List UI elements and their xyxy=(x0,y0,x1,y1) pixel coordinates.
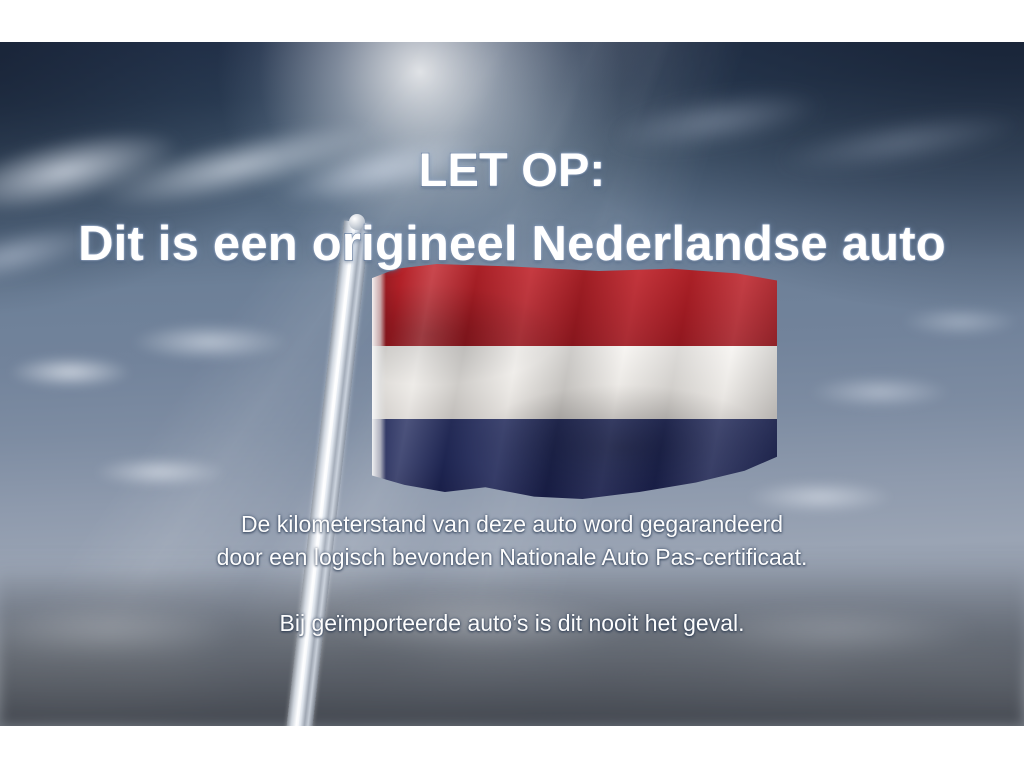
flag-stripe-red xyxy=(372,264,777,346)
photo-canvas: LET OP: Dit is een origineel Nederlandse… xyxy=(0,42,1024,726)
bottom-shadow-gradient xyxy=(0,566,1024,726)
body-line-3: Bij geïmporteerde auto’s is dit nooit he… xyxy=(0,607,1024,640)
body-line-1: De kilometerstand van deze auto word geg… xyxy=(0,508,1024,541)
banner-image: LET OP: Dit is een origineel Nederlandse… xyxy=(0,0,1024,768)
body-line-2: door een logisch bevonden Nationale Auto… xyxy=(0,541,1024,574)
headline-line-2: Dit is een origineel Nederlandse auto xyxy=(0,220,1024,270)
flag-stripe-white xyxy=(372,346,777,419)
body-paragraph-1: De kilometerstand van deze auto word geg… xyxy=(0,508,1024,573)
dutch-flag xyxy=(372,264,777,499)
body-paragraph-2: Bij geïmporteerde auto’s is dit nooit he… xyxy=(0,607,1024,640)
headline-line-1: LET OP: xyxy=(0,146,1024,194)
